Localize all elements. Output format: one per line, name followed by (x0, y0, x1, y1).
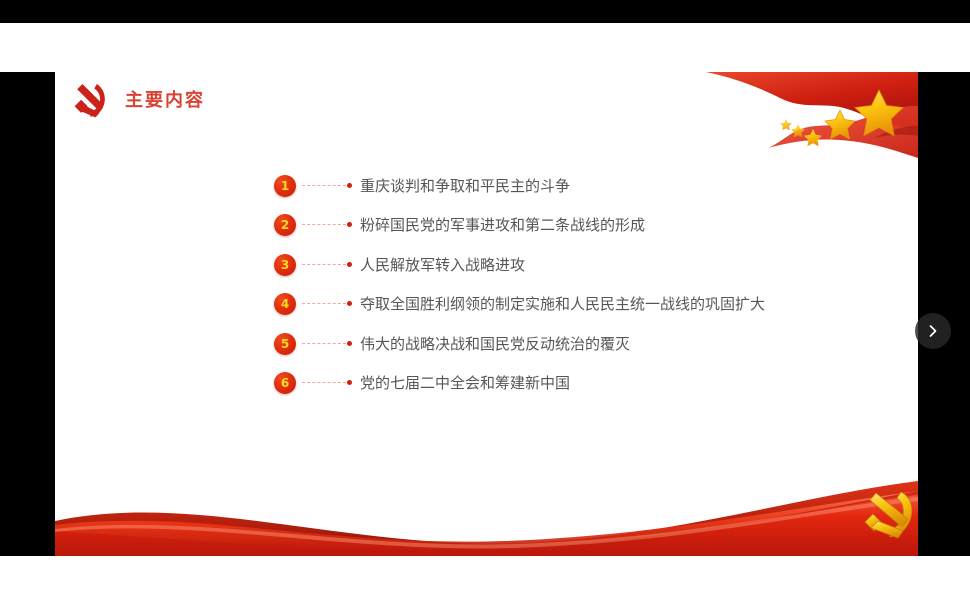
list-item: 5伟大的战略决战和国民党反动统治的覆灭 (274, 331, 894, 370)
list-item-bullet-dot (347, 380, 352, 385)
list-item: 2粉碎国民党的军事进攻和第二条战线的形成 (274, 212, 894, 251)
list-item-number: 1 (274, 175, 296, 197)
list-item-connector (302, 343, 346, 345)
list-item-connector (302, 224, 346, 226)
list-item-connector (302, 382, 346, 384)
list-item: 6党的七届二中全会和筹建新中国 (274, 370, 894, 409)
list-item-label: 夺取全国胜利纲领的制定实施和人民民主统一战线的巩固扩大 (360, 294, 765, 314)
list-item-number: 3 (274, 254, 296, 276)
slide-viewer: 主要内容 1重庆谈判和争取和平民主的斗争2粉碎国民党的军事进攻和第二条战线的形成… (0, 0, 970, 606)
list-item-connector (302, 303, 346, 305)
list-item-number: 4 (274, 293, 296, 315)
slide-header: 主要内容 (55, 72, 918, 136)
list-item-label: 党的七届二中全会和筹建新中国 (360, 373, 570, 393)
page-title: 主要内容 (125, 86, 205, 112)
hammer-and-sickle-gold-icon (855, 486, 918, 544)
letterbox-top (0, 0, 970, 23)
list-item-connector (302, 264, 346, 266)
content-list: 1重庆谈判和争取和平民主的斗争2粉碎国民党的军事进攻和第二条战线的形成3人民解放… (274, 173, 894, 409)
list-item: 4夺取全国胜利纲领的制定实施和人民民主统一战线的巩固扩大 (274, 291, 894, 330)
hammer-and-sickle-icon (68, 80, 110, 122)
list-item-bullet-dot (347, 222, 352, 227)
list-item-number: 2 (274, 214, 296, 236)
list-item-bullet-dot (347, 301, 352, 306)
list-item-label: 粉碎国民党的军事进攻和第二条战线的形成 (360, 215, 645, 235)
list-item-number: 5 (274, 333, 296, 355)
red-wave-decoration (55, 451, 918, 556)
list-item: 1重庆谈判和争取和平民主的斗争 (274, 173, 894, 212)
list-item-connector (302, 185, 346, 187)
list-item-label: 人民解放军转入战略进攻 (360, 255, 525, 275)
list-item-label: 重庆谈判和争取和平民主的斗争 (360, 176, 570, 196)
letterbox-left (0, 72, 55, 556)
list-item: 3人民解放军转入战略进攻 (274, 252, 894, 291)
next-slide-button[interactable] (915, 313, 951, 349)
list-item-label: 伟大的战略决战和国民党反动统治的覆灭 (360, 334, 630, 354)
list-item-number: 6 (274, 372, 296, 394)
list-item-bullet-dot (347, 183, 352, 188)
list-item-bullet-dot (347, 262, 352, 267)
list-item-bullet-dot (347, 341, 352, 346)
presentation-slide: 主要内容 1重庆谈判和争取和平民主的斗争2粉碎国民党的军事进攻和第二条战线的形成… (55, 72, 918, 556)
chevron-right-icon (926, 324, 940, 338)
